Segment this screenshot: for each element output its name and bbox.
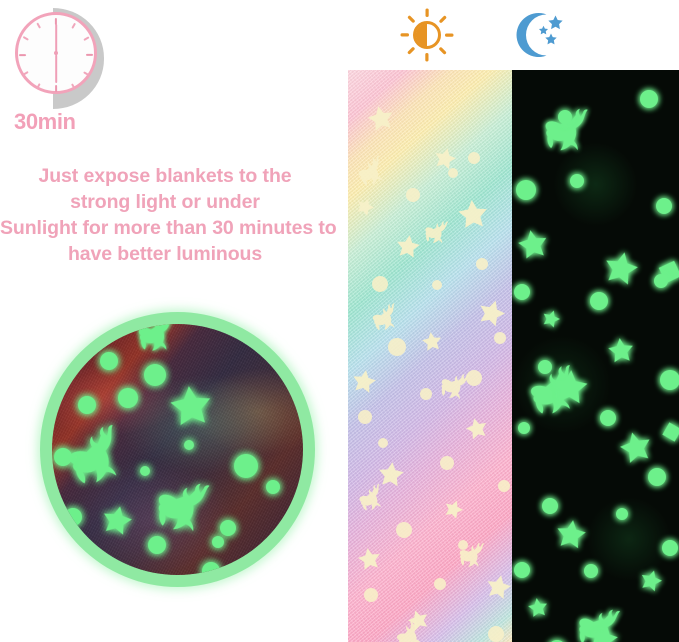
star-motif [378,461,405,487]
dot-motif [64,508,82,526]
unicorn-shape [65,425,122,486]
dot-motif [514,284,530,300]
dot-motif [570,174,584,188]
moon-star-medium [539,26,548,35]
star-motif [617,429,654,464]
clock-tick [71,83,75,89]
unicorn-motif [371,303,397,331]
dot-motif [558,110,572,124]
dot-motif [434,578,446,590]
dot-motif [220,520,236,536]
sun-ray [439,47,447,55]
dot-motif [148,536,166,554]
star-motif [602,249,640,286]
dot-motif [100,352,118,370]
panel-daylight [348,70,512,642]
dot-motif [514,562,530,578]
dot-motif [458,540,468,550]
star-motif [354,195,376,217]
dot-motif [372,276,388,292]
dot-motif [406,188,420,202]
crescent-moon-shape [517,13,547,57]
diamond-motif [660,420,679,444]
clock-tick [36,23,40,29]
dot-motif [590,292,608,310]
unicorn-shape [423,218,448,245]
dot-motif [420,388,432,400]
unicorn-motif [438,368,470,401]
dot-motif [542,498,558,514]
unicorn-shape [153,474,210,535]
clock-hand-bottom [55,55,57,83]
headline-line-2: strong light or under [0,189,330,215]
clock-tick [55,85,57,92]
headline-line-4: have better luminous [0,241,330,267]
unicorn-shape [355,156,385,188]
dot-motif [184,440,194,450]
dot-motif [538,360,552,374]
unicorn-motif [153,474,210,535]
unicorn-motif [65,425,122,486]
star-motif [101,503,135,535]
clock-tick [36,83,40,89]
unicorn-motif [138,324,173,352]
left-column: 30min Just expose blankets to the strong… [0,0,340,642]
clock-icon [10,6,120,110]
dot-motif [648,468,666,486]
sun-icon-svg [397,6,457,64]
star-motif [395,234,421,259]
dot-motif [364,588,378,602]
clock-tick [23,71,29,75]
star-motif [433,146,458,170]
timer-label: 30min [14,109,134,135]
unicorn-shape [357,484,383,512]
clock-face [15,12,97,94]
dark-motif-layer [512,70,679,642]
dot-motif [432,280,442,290]
unicorn-motif [355,156,385,188]
moon-icon-svg [510,6,570,64]
unicorn-motif [423,218,448,245]
dot-motif [54,448,72,466]
star-motif [464,416,489,441]
clock-tick [83,71,89,75]
dot-motif [234,454,258,478]
dot-motif [212,536,224,548]
dot-motif [654,274,668,288]
sun-icon [397,6,457,64]
star-motif [421,331,442,352]
clock-tick [86,54,93,56]
dot-motif [616,508,628,520]
glow-detail-photo [40,312,315,587]
dot-motif [378,438,388,448]
dot-motif [118,388,138,408]
dot-motif [440,456,454,470]
moon-stars-icon [510,6,570,64]
dot-motif [640,90,658,108]
star-motif [476,297,508,328]
clock-tick [23,36,29,40]
unicorn-shape [438,368,470,401]
glow-detail-photo-inner [52,324,303,575]
star-motif [541,308,562,329]
headline-line-1: Just expose blankets to the [0,163,330,189]
star-motif [442,497,465,519]
sun-ray [407,47,415,55]
daylight-motif-layer [348,70,512,642]
right-column [340,0,679,642]
clock-tick [83,36,89,40]
star-motif [485,573,512,600]
unicorn-shape [138,324,173,352]
sun-ray [425,53,428,62]
dot-motif [494,332,506,344]
star-motif [555,518,587,549]
dot-motif [660,370,679,390]
dot-motif [498,480,510,492]
dot-motif [656,198,672,214]
star-motif [516,228,549,260]
dot-motif [468,152,480,164]
headline-line-3: Sunlight for more than 30 minutes to [0,215,330,241]
star-motif [527,597,548,618]
star-motif [357,546,382,570]
timer-badge: 30min [6,4,146,149]
dot-motif [78,396,96,414]
sun-ray [439,15,447,23]
moon-star-large [548,16,562,30]
clock-pivot [54,51,58,55]
dot-motif [448,168,458,178]
unicorn-motif [357,484,383,512]
dot-motif [358,410,372,424]
dot-motif [396,522,412,538]
star-motif [406,607,431,631]
dot-motif [388,338,406,356]
circle-motif-layer [52,324,303,575]
sun-ray [407,15,415,23]
dot-motif [600,410,616,426]
dot-motif [584,564,598,578]
sun-ray [445,34,454,37]
star-motif [457,199,488,229]
star-motif [607,337,634,363]
star-motif [351,368,377,393]
moon-star-small [545,34,556,45]
dot-motif [662,540,678,556]
dot-motif [518,422,530,434]
infographic-canvas: 30min Just expose blankets to the strong… [0,0,679,642]
dot-motif [488,626,504,642]
clock-tick [19,54,26,56]
star-motif [366,104,395,132]
dot-motif [266,480,280,494]
dot-motif [466,370,482,386]
panel-dark [512,70,679,642]
dot-motif [140,466,150,476]
dot-motif [516,180,536,200]
dot-motif [144,364,166,386]
clock-tick [71,23,75,29]
dot-motif [476,258,488,270]
unicorn-shape [371,303,397,331]
star-motif [638,568,664,593]
dot-motif [202,562,220,575]
sun-ray [426,9,429,18]
star-motif [169,384,213,426]
headline-text: Just expose blankets to the strong light… [0,163,330,267]
sun-ray [401,33,410,36]
